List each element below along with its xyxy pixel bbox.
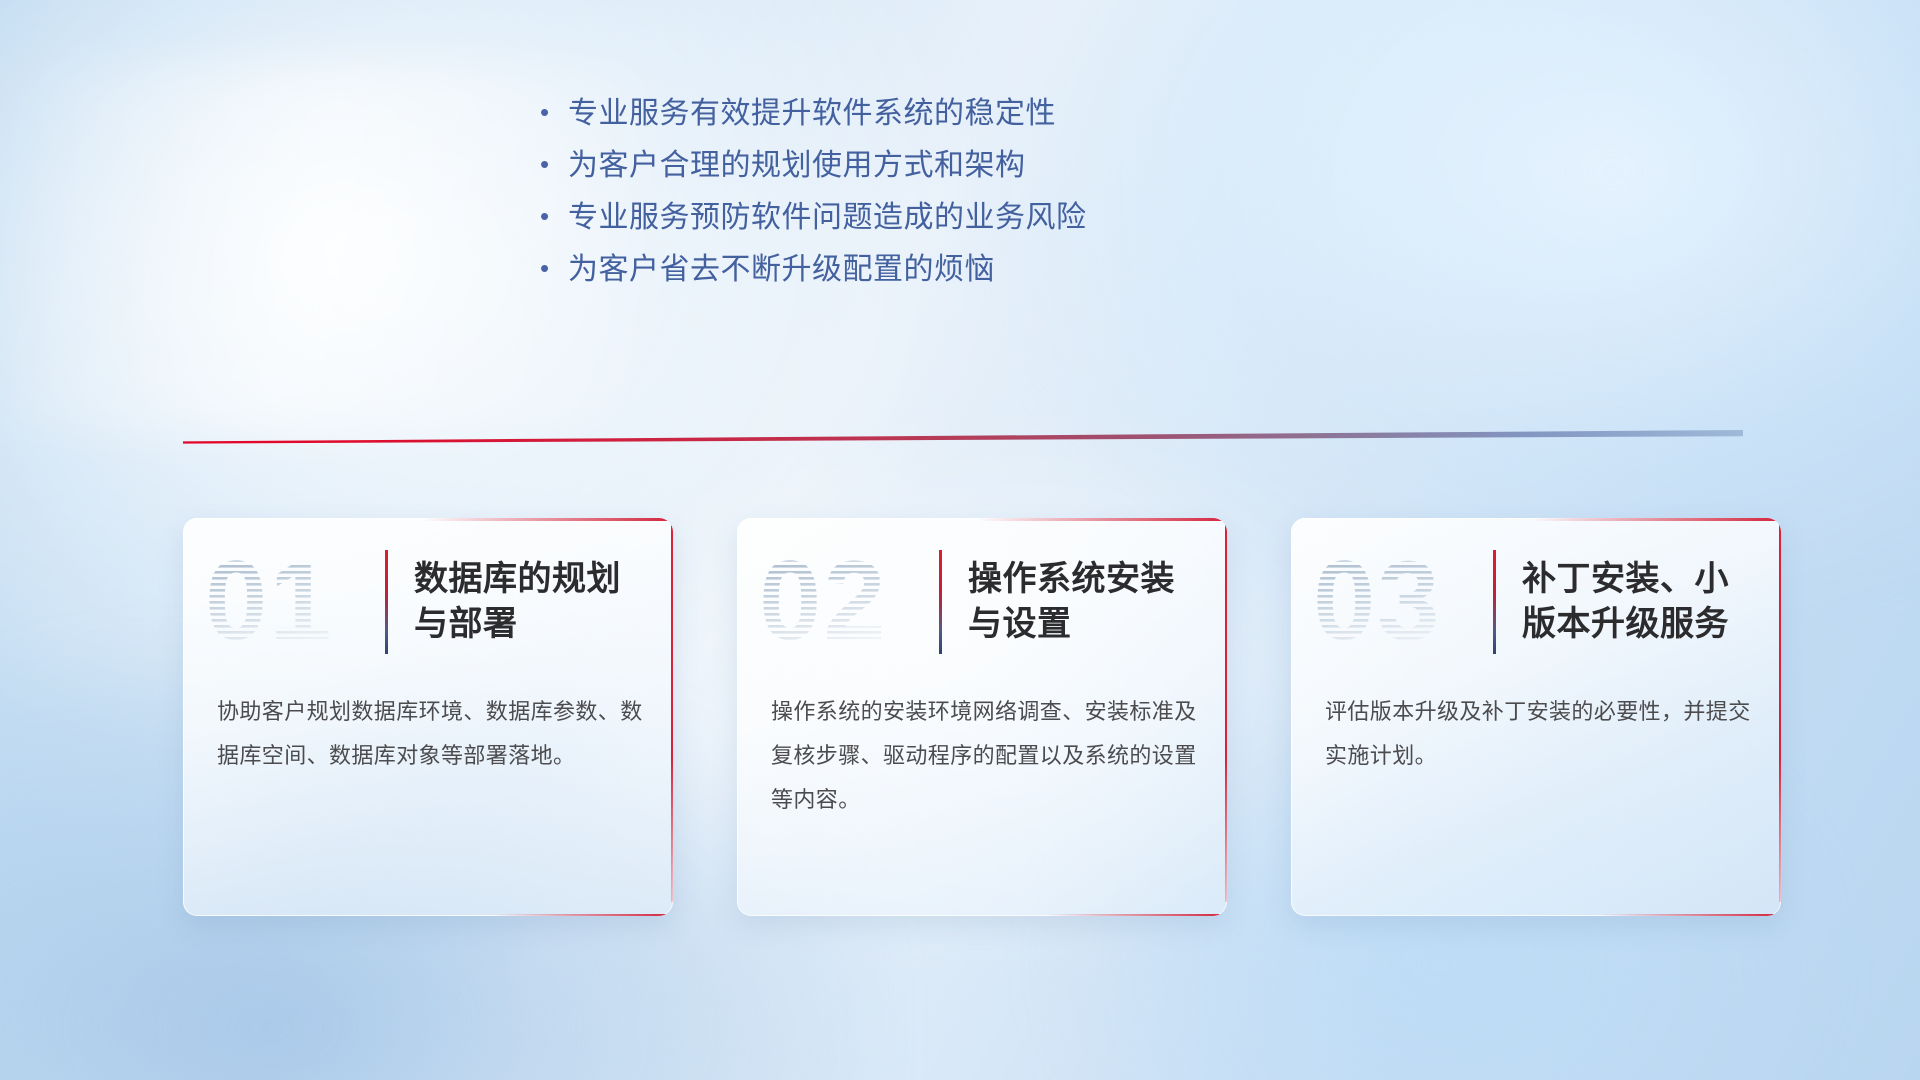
bullet-item-label: 为客户省去不断升级配置的烦恼 [568,244,995,288]
card-number-watermark-icon: 01 [205,547,381,657]
card-title-divider [1493,550,1496,654]
tapered-accent-line-icon [183,430,1743,448]
card-description: 协助客户规划数据库环境、数据库参数、数据库空间、数据库对象等部署落地。 [183,690,673,778]
bullet-item-label: 专业服务预防软件问题造成的业务风险 [568,192,1087,236]
card-number-watermark-icon: 02 [759,547,935,657]
card-number: 03 [1313,547,1489,657]
card-title: 补丁安装、小版本升级服务 [1522,557,1755,647]
card-title: 数据库的规划与部署 [414,557,647,647]
svg-text:03: 03 [1313,547,1442,657]
service-card[interactable]: 01 数据库的规划与部署 协助客户规划数据库环境、数据库参数、数据库空间、数据库… [183,518,673,916]
bullet-item: •专业服务有效提升软件系统的稳定性 [540,88,1440,140]
bullet-dot-icon: • [540,99,568,125]
bullet-item-label: 专业服务有效提升软件系统的稳定性 [568,88,1056,132]
card-number: 01 [205,547,381,657]
bullet-item: •为客户合理的规划使用方式和架构 [540,140,1440,192]
card-title-divider [939,550,942,654]
card-description: 评估版本升级及补丁安装的必要性，并提交实施计划。 [1291,690,1781,778]
card-description: 操作系统的安装环境网络调查、安装标准及复核步骤、驱动程序的配置以及系统的设置等内… [737,690,1227,822]
svg-text:01: 01 [205,547,334,657]
card-accent-bottom [493,914,673,917]
card-accent-bottom [1601,914,1781,917]
card-title: 操作系统安装与设置 [968,557,1201,647]
card-number: 02 [759,547,935,657]
bullet-dot-icon: • [540,151,568,177]
bullet-item: •专业服务预防软件问题造成的业务风险 [540,192,1440,244]
card-number-watermark-icon: 03 [1313,547,1489,657]
bullet-item: •为客户省去不断升级配置的烦恼 [540,244,1440,296]
bullet-dot-icon: • [540,255,568,281]
card-title-divider [385,550,388,654]
bullet-dot-icon: • [540,203,568,229]
bullet-list: •专业服务有效提升软件系统的稳定性•为客户合理的规划使用方式和架构•专业服务预防… [540,88,1440,296]
card-header: 03 补丁安装、小版本升级服务 [1291,518,1781,686]
card-list: 01 数据库的规划与部署 协助客户规划数据库环境、数据库参数、数据库空间、数据库… [183,518,1781,916]
bullet-item-label: 为客户合理的规划使用方式和架构 [568,140,1026,184]
card-header: 01 数据库的规划与部署 [183,518,673,686]
svg-text:02: 02 [759,547,888,657]
divider [183,430,1743,448]
card-accent-bottom [1047,914,1227,917]
service-card[interactable]: 03 补丁安装、小版本升级服务 评估版本升级及补丁安装的必要性，并提交实施计划。 [1291,518,1781,916]
service-card[interactable]: 02 操作系统安装与设置 操作系统的安装环境网络调查、安装标准及复核步骤、驱动程… [737,518,1227,916]
card-header: 02 操作系统安装与设置 [737,518,1227,686]
